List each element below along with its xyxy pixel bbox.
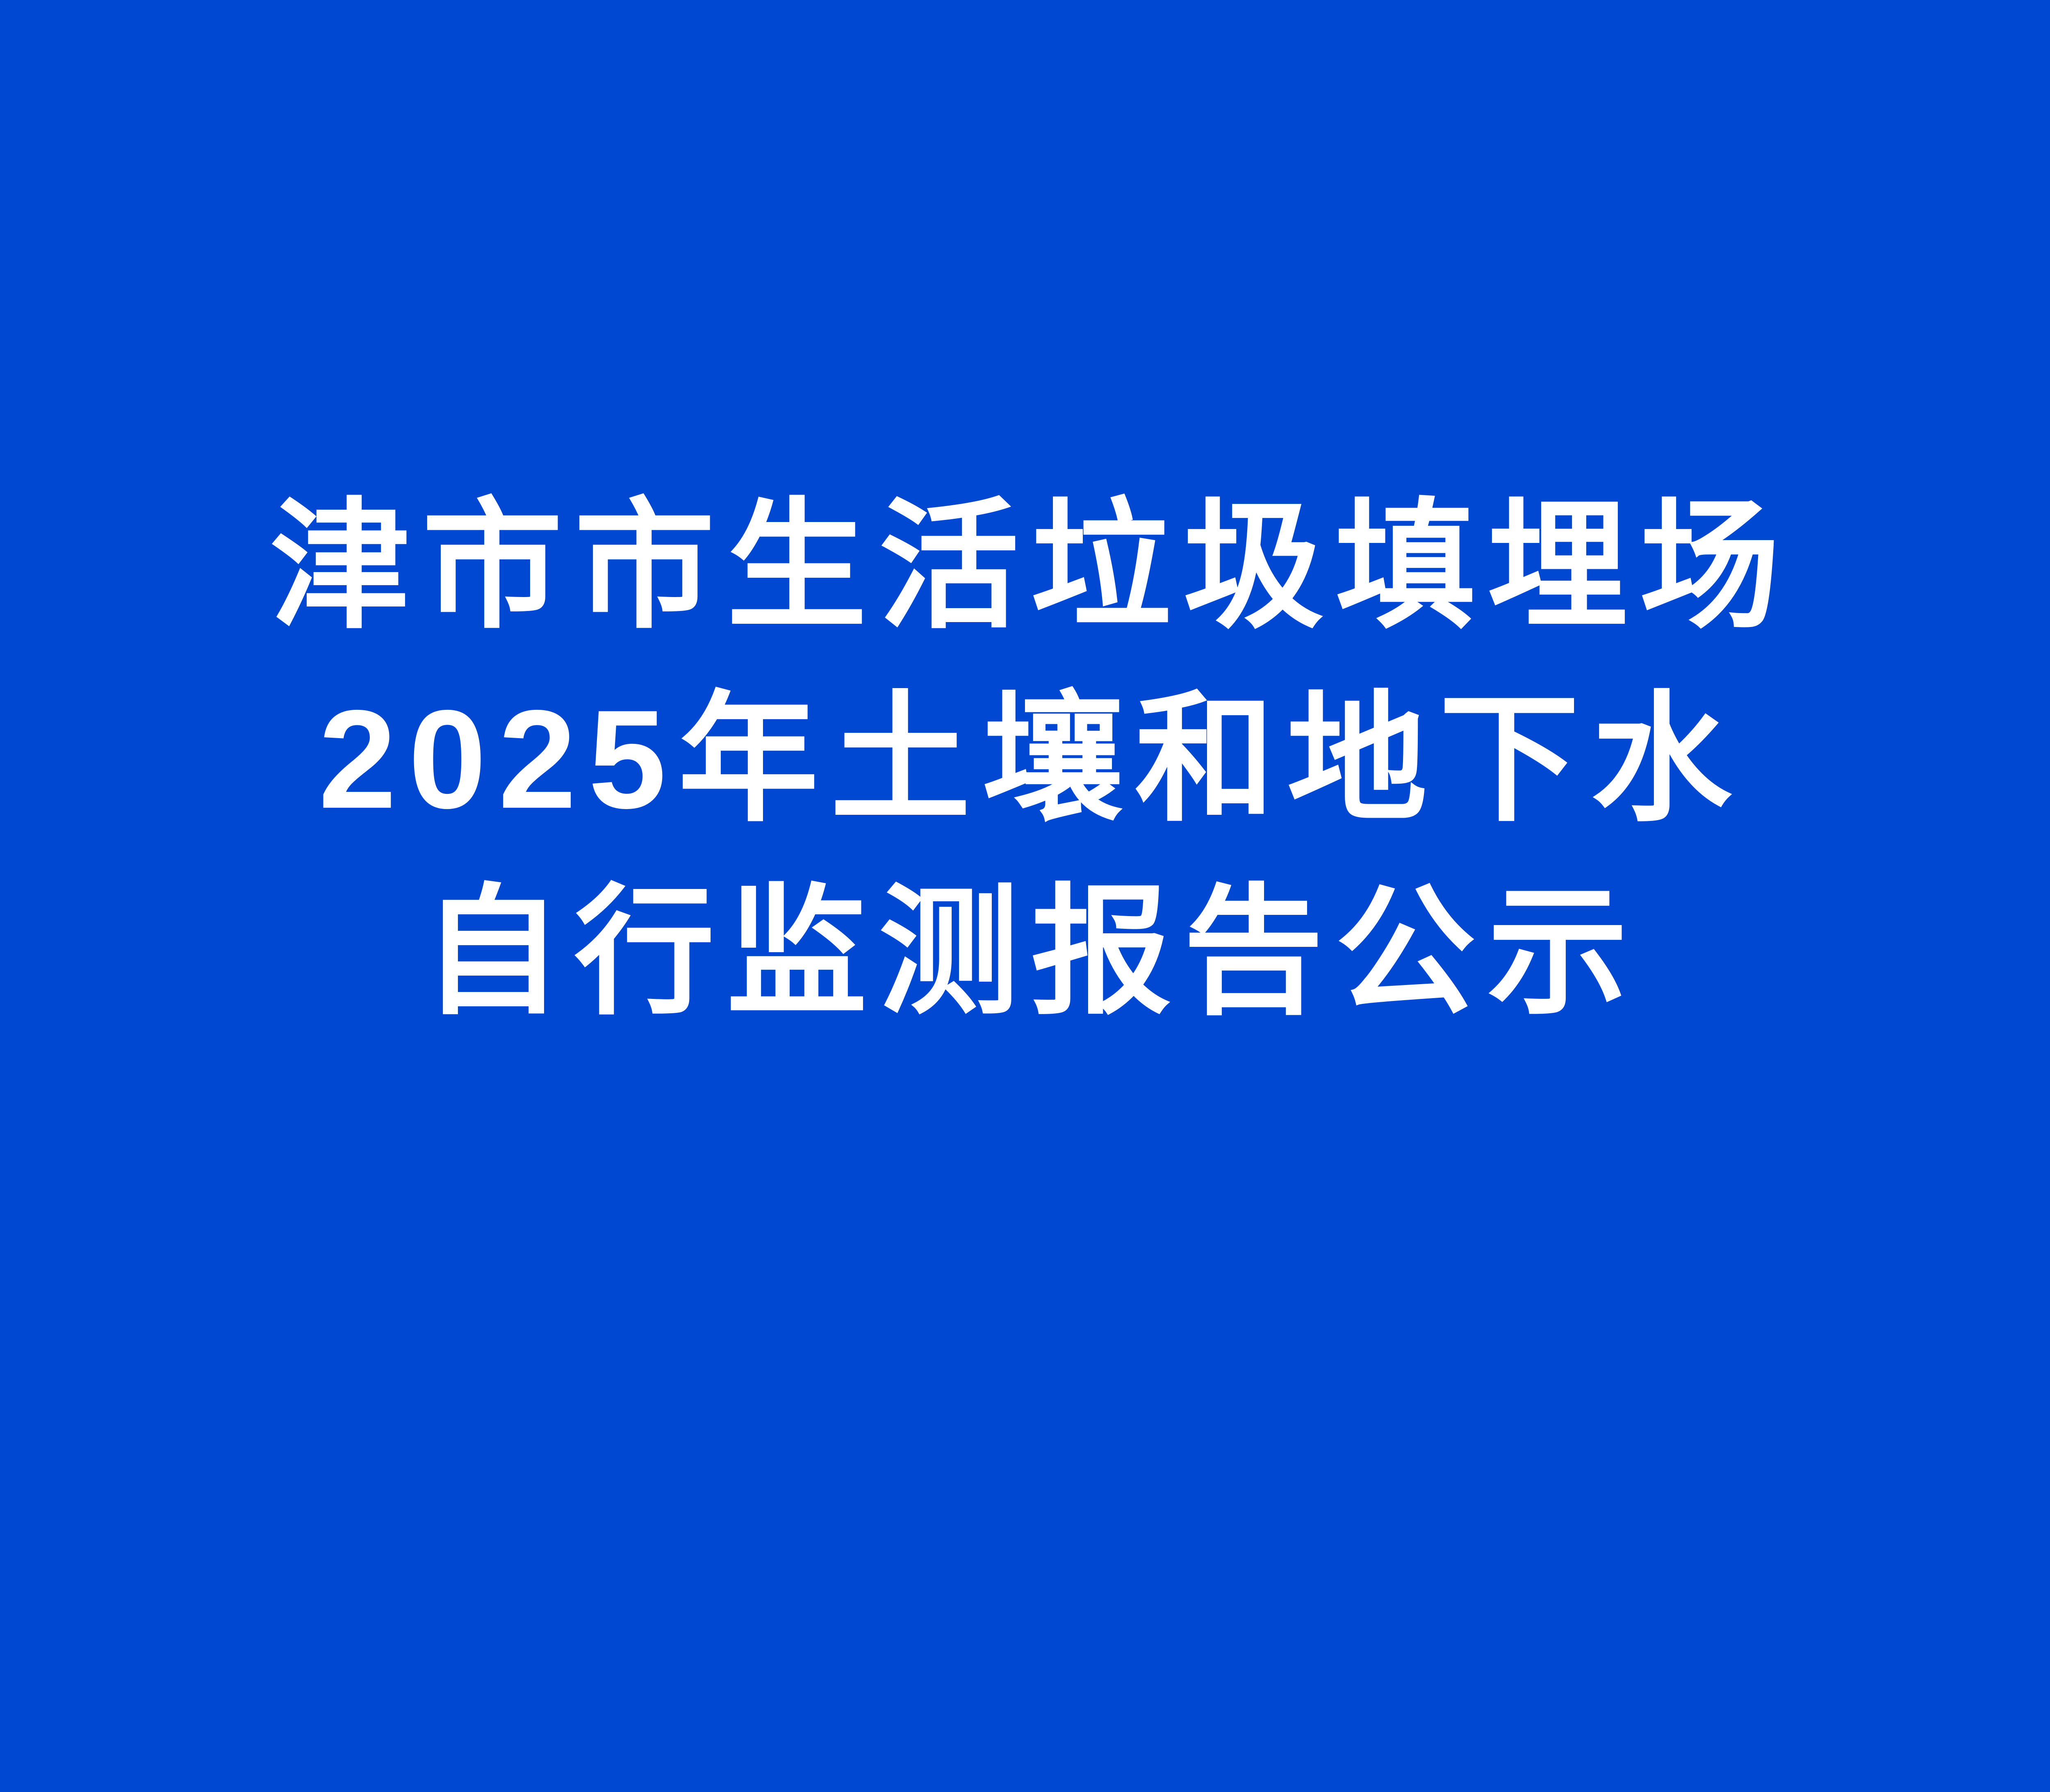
title-line-1: 津市市生活垃圾填埋场 (258, 496, 1792, 636)
title-line-2: 2025年土壤和地下水 (307, 689, 1744, 830)
title-line-3: 自行监测报告公示 (410, 882, 1640, 1022)
poster-content: 津市市生活垃圾填埋场 2025年土壤和地下水 自行监测报告公示 (0, 0, 2050, 1533)
page-title: 津市市生活垃圾填埋场 2025年土壤和地下水 自行监测报告公示 (0, 496, 2050, 1022)
announcement-poster: 津市市生活垃圾填埋场 2025年土壤和地下水 自行监测报告公示 (0, 0, 2050, 1533)
